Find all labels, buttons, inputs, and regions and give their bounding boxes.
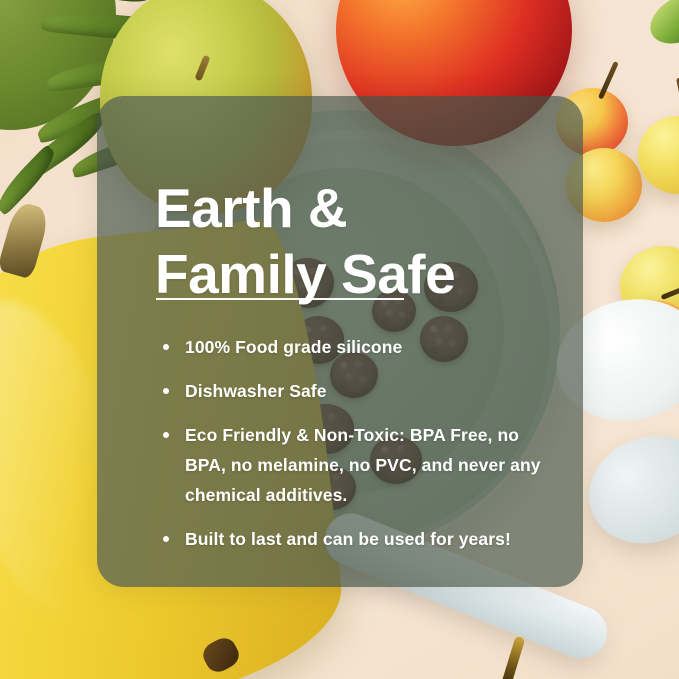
spoon-bowl (575, 422, 679, 559)
title-line-2: Family Safe (155, 241, 555, 307)
fruit-twig (501, 636, 526, 679)
product-feature-image: Earth & Family Safe 100% Food grade sili… (0, 0, 679, 679)
feature-card-content: Earth & Family Safe 100% Food grade sili… (97, 96, 583, 587)
list-item: Built to last and can be used for years! (157, 524, 557, 554)
bullet-icon (163, 388, 169, 394)
feature-card: Earth & Family Safe 100% Food grade sili… (97, 96, 583, 587)
list-item: 100% Food grade silicone (157, 332, 557, 362)
title-divider (156, 298, 404, 300)
cherry-plum (638, 116, 679, 194)
list-item-label: Eco Friendly & Non-Toxic: BPA Free, no B… (185, 425, 541, 505)
feature-list: 100% Food grade silicone Dishwasher Safe… (157, 332, 557, 554)
bullet-icon (163, 536, 169, 542)
list-item-label: Dishwasher Safe (185, 381, 327, 401)
bullet-icon (163, 432, 169, 438)
page-title: Earth & Family Safe (155, 175, 555, 307)
title-line-1: Earth & (155, 175, 555, 241)
list-item: Dishwasher Safe (157, 376, 557, 406)
list-item-label: 100% Food grade silicone (185, 337, 402, 357)
watermelon-sliver (642, 0, 679, 54)
bullet-icon (163, 344, 169, 350)
list-item: Eco Friendly & Non-Toxic: BPA Free, no B… (157, 420, 557, 510)
list-item-label: Built to last and can be used for years! (185, 529, 511, 549)
